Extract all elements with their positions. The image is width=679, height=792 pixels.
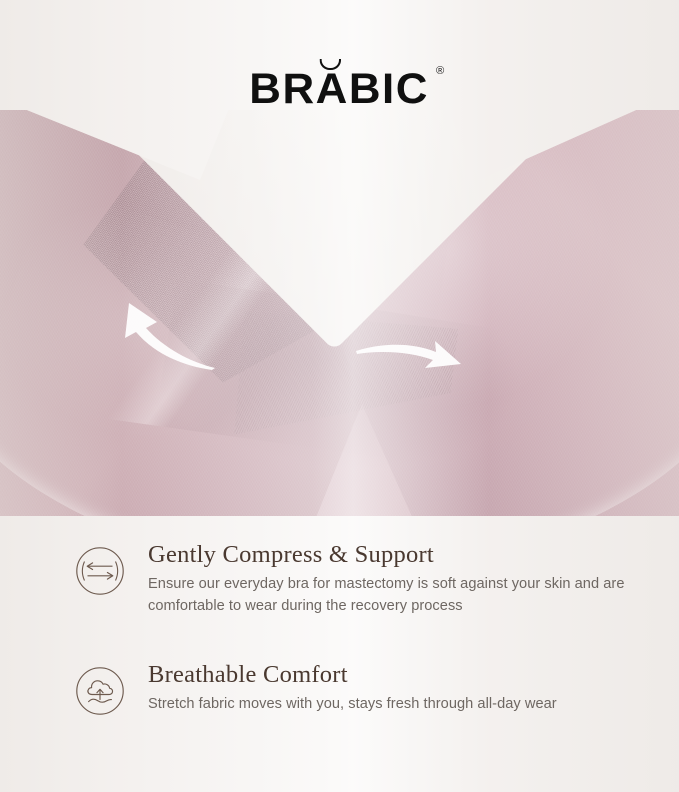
- feature-description: Ensure our everyday bra for mastectomy i…: [148, 574, 634, 618]
- breathable-cloud-icon: [74, 665, 126, 717]
- feature-item-breathable-comfort: Breathable Comfort Stretch fabric moves …: [74, 661, 634, 717]
- feature-title: Breathable Comfort: [148, 661, 557, 690]
- feature-list: Gently Compress & Support Ensure our eve…: [0, 516, 679, 792]
- product-feature-page: BRABIC® Gently Compress & Support Ensure…: [0, 0, 679, 792]
- hero-image: BRABIC®: [0, 0, 679, 516]
- fabric-photo: [0, 100, 679, 516]
- feature-description: Stretch fabric moves with you, stays fre…: [148, 694, 557, 716]
- feature-text-block: Gently Compress & Support Ensure our eve…: [148, 541, 634, 618]
- feature-text-block: Breathable Comfort Stretch fabric moves …: [148, 661, 557, 716]
- feature-title: Gently Compress & Support: [148, 541, 634, 570]
- feature-item-gently-compress-support: Gently Compress & Support Ensure our eve…: [74, 541, 634, 618]
- two-way-stretch-arrows-icon: [74, 545, 126, 597]
